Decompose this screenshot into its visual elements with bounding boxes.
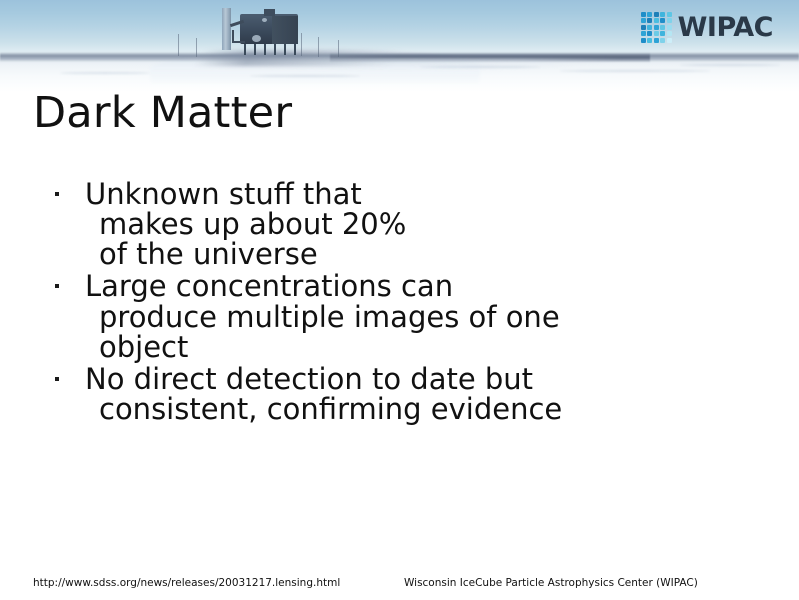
lab-leg: [294, 44, 296, 55]
slide-footer: http://www.sdss.org/news/releases/200312…: [0, 574, 799, 600]
wipac-dot-4-3: [660, 38, 665, 43]
wipac-dot-2-2: [654, 25, 659, 30]
wipac-dot-2-1: [647, 25, 652, 30]
wipac-dot-3-2: [654, 31, 659, 36]
wipac-dot-1-3: [660, 18, 665, 23]
organization-label: Wisconsin IceCube Particle Astrophysics …: [404, 577, 698, 589]
wipac-dot-0-0: [641, 12, 646, 17]
wipac-dot-4-0: [641, 38, 646, 43]
lab-tower: [222, 8, 231, 50]
bullet-1-line-1: Unknown stuff that: [85, 179, 770, 209]
header-banner-image: WIPAC: [0, 0, 799, 92]
bullet-marker-icon: [55, 377, 59, 381]
wipac-dot-0-4: [667, 12, 672, 17]
wipac-dot-1-4: [667, 18, 672, 23]
lab-support-frame: [232, 30, 245, 43]
lab-leg: [264, 44, 266, 55]
wipac-dot-3-1: [647, 31, 652, 36]
bullet-marker-icon: [55, 284, 59, 288]
snow-texture-streak: [420, 66, 540, 68]
snow-texture-streak: [680, 64, 780, 66]
snow-texture-streak: [60, 72, 150, 74]
antenna-pole: [338, 40, 339, 57]
wipac-dot-1-2: [654, 18, 659, 23]
bullet-item-1: Unknown stuff that makes up about 20% of…: [50, 179, 770, 269]
bullet-3-continuation: consistent, confirming evidence: [85, 394, 770, 424]
snow-texture-streak: [560, 70, 710, 72]
lab-roof-box: [264, 9, 275, 16]
lab-window: [252, 35, 261, 42]
bullet-item-2: Large concentrations can produce multipl…: [50, 271, 770, 361]
antenna-pole: [178, 34, 179, 56]
wipac-dot-1-0: [641, 18, 646, 23]
wipac-dot-2-0: [641, 25, 646, 30]
wipac-dot-1-1: [647, 18, 652, 23]
lab-leg: [244, 44, 246, 55]
antenna-pole: [196, 38, 197, 57]
wipac-dot-4-2: [654, 38, 659, 43]
bullet-3-line-1: No direct detection to date but: [85, 364, 770, 394]
bullet-1-continuation: makes up about 20% of the universe: [85, 209, 770, 269]
icecube-lab-building: [222, 8, 304, 56]
antenna-pole: [318, 37, 319, 57]
wipac-dot-0-3: [660, 12, 665, 17]
wipac-wordmark: WIPAC: [678, 14, 773, 41]
wipac-dot-4-1: [647, 38, 652, 43]
wipac-dot-0-1: [647, 12, 652, 17]
slide: WIPAC Dark Matter Unknown stuff that mak…: [0, 0, 799, 600]
wipac-dot-2-3: [660, 25, 665, 30]
lab-leg: [274, 44, 276, 55]
wipac-dot-0-2: [654, 12, 659, 17]
bullet-2-line-1: Large concentrations can: [85, 271, 770, 301]
lab-window: [262, 18, 267, 22]
wipac-logo: WIPAC: [641, 12, 773, 43]
wipac-dot-2-4: [667, 25, 672, 30]
wipac-dot-3-0: [641, 31, 646, 36]
bullet-item-3: No direct detection to date but consiste…: [50, 364, 770, 424]
wipac-dot-3-4: [667, 31, 672, 36]
wipac-dot-3-3: [660, 31, 665, 36]
snow-texture-streak: [250, 75, 360, 77]
lab-leg: [254, 44, 256, 55]
wipac-dot-4-4: [667, 38, 672, 43]
lab-leg: [284, 44, 286, 55]
slide-title: Dark Matter: [33, 89, 292, 138]
lab-side-body: [272, 16, 298, 44]
bullet-2-continuation: produce multiple images of one object: [85, 302, 770, 362]
bullet-marker-icon: [55, 192, 59, 196]
wipac-dot-grid-icon: [641, 12, 672, 43]
slide-body: Unknown stuff that makes up about 20% of…: [50, 179, 770, 424]
source-url[interactable]: http://www.sdss.org/news/releases/200312…: [33, 577, 340, 589]
